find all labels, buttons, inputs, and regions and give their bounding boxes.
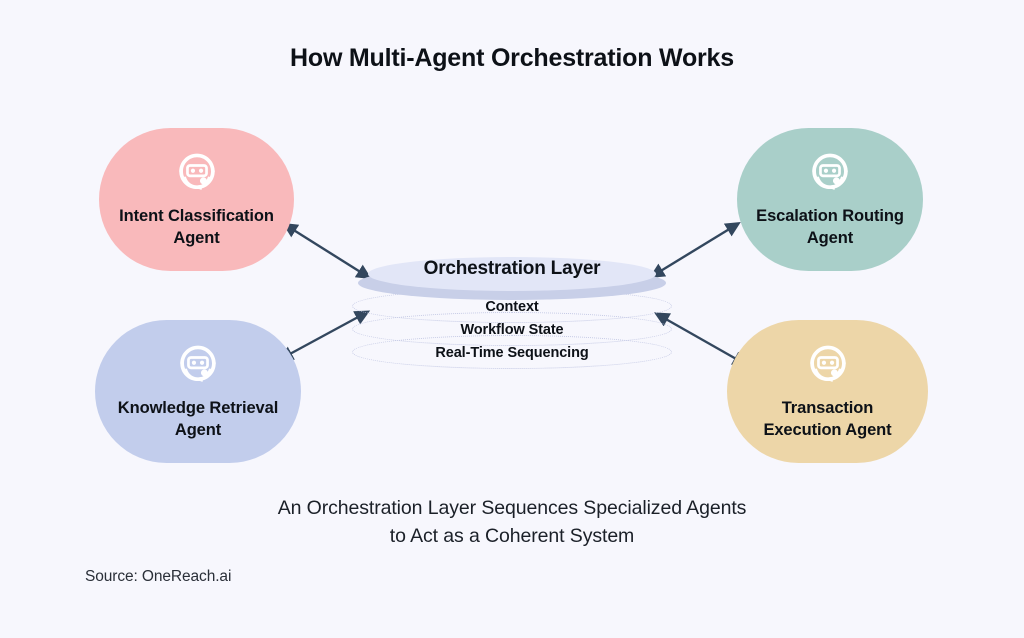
robot-headset-icon xyxy=(170,146,224,200)
diagram-caption: An Orchestration Layer Sequences Special… xyxy=(0,495,1024,550)
agent-label: Intent Classification Agent xyxy=(119,206,274,248)
source-attribution: Source: OneReach.ai xyxy=(85,568,231,586)
diagram-canvas: How Multi-Agent Orchestration Works xyxy=(0,0,1024,638)
agent-label: Transaction Execution Agent xyxy=(763,398,891,440)
agent-node-transaction-execution[interactable]: Transaction Execution Agent xyxy=(727,320,928,463)
arrow-transaction-orchestration xyxy=(664,318,738,360)
arrow-knowledge-orchestration xyxy=(288,316,360,355)
robot-headset-icon xyxy=(803,146,857,200)
orchestration-ring-label: Workflow State xyxy=(352,322,672,338)
agent-node-knowledge-retrieval[interactable]: Knowledge Retrieval Agent xyxy=(95,320,301,463)
robot-headset-icon xyxy=(171,338,225,392)
orchestration-layer-stack[interactable]: Orchestration Layer Context Workflow Sta… xyxy=(352,246,672,374)
agent-label: Escalation Routing Agent xyxy=(756,206,904,248)
agent-node-escalation-routing[interactable]: Escalation Routing Agent xyxy=(737,128,923,271)
orchestration-layer-title: Orchestration Layer xyxy=(352,258,672,280)
orchestration-ring-label: Context xyxy=(352,299,672,315)
page-title: How Multi-Agent Orchestration Works xyxy=(0,44,1024,73)
orchestration-ring-label: Real-Time Sequencing xyxy=(352,345,672,361)
agent-label: Knowledge Retrieval Agent xyxy=(118,398,278,440)
robot-headset-icon xyxy=(801,338,855,392)
agent-node-intent-classification[interactable]: Intent Classification Agent xyxy=(99,128,294,271)
